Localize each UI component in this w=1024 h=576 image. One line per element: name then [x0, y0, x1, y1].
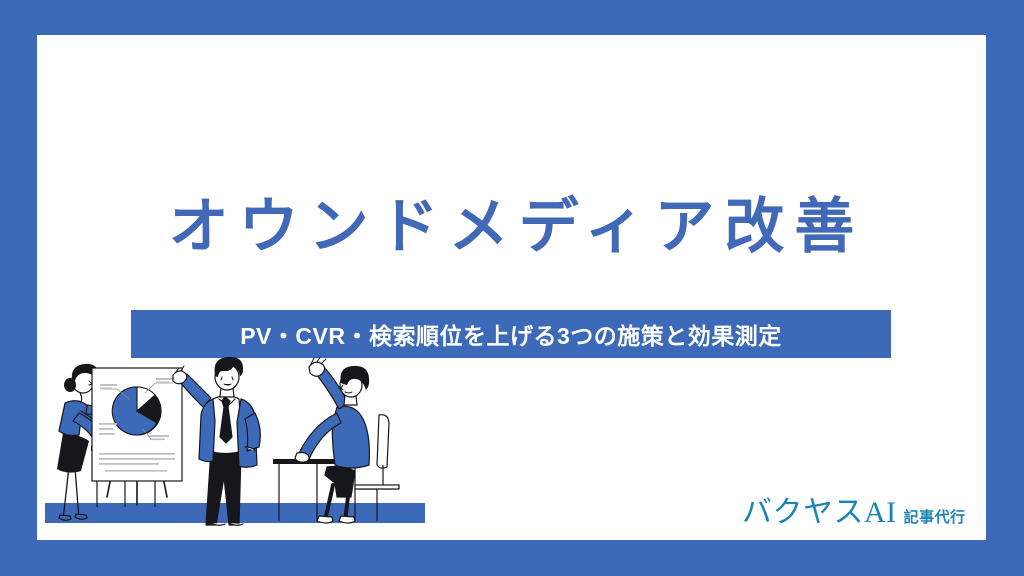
brand-logo: バクヤスAI 記事代行 — [742, 487, 966, 531]
pie-chart-graphic — [112, 387, 161, 435]
page-title: オウンドメディア改善 — [37, 195, 986, 258]
slide-canvas: オウンドメディア改善 PV・CVR・検索順位を上げる3つの施策と効果測定 バクヤ… — [0, 0, 1024, 576]
pie-chart-poster-shape — [92, 368, 182, 481]
business-team-presentation-illustration — [45, 355, 425, 540]
brand-name: バクヤスAI — [742, 487, 897, 531]
brand-service-label: 記事代行 — [904, 506, 966, 527]
standing-man-figure — [173, 357, 260, 525]
slide-card: オウンドメディア改善 PV・CVR・検索順位を上げる3つの施策と効果測定 バクヤ… — [37, 35, 986, 540]
subtitle-text: PV・CVR・検索順位を上げる3つの施策と効果測定 — [240, 317, 782, 351]
seated-person-figure — [295, 357, 369, 523]
subtitle-ribbon: PV・CVR・検索順位を上げる3つの施策と効果測定 — [131, 310, 891, 358]
